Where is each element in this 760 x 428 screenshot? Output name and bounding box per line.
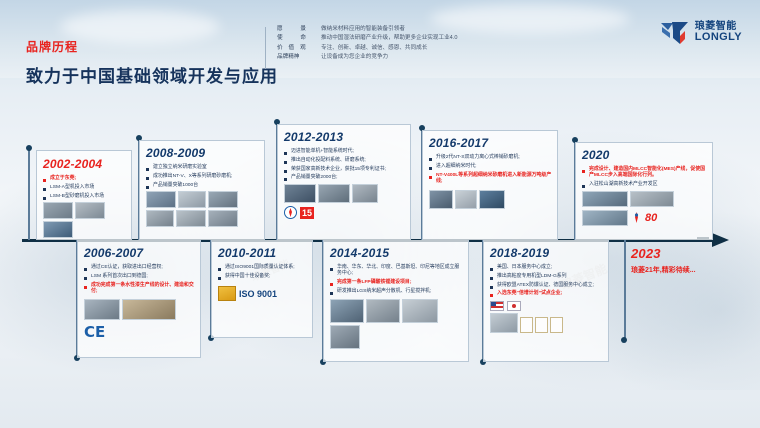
period-bullet: 入驻松山湖高新技术产业开发区 [582,182,707,188]
cloud-decoration [430,4,630,34]
period-bullet: 美国、日本服务中心成立; [490,265,603,271]
period-year: 2023 [631,246,741,261]
period-card-2008-2009[interactable]: 2008-2009 建立独立纳米研磨实验室 成功推出NT-V、X等系列研磨砂磨机… [139,140,265,240]
period-bullet: 产品销量突破2000台; [284,175,405,181]
thumbnail-image [146,210,174,227]
iso-badge-label: ISO 9001 [239,289,277,299]
logo-text: 琅菱智能 LONGLY [695,22,742,44]
period-bullet: 完成设计、建造国内MLCC智能化(MES)产线，促使国产MLCC步入高端国际化行… [582,167,707,180]
period-bullet: 获得中国十佳设备奖; [218,274,307,280]
page-title: 致力于中国基础领域开发与应用 [26,62,278,87]
thumbnail-image [429,190,453,209]
thumbnail-image [122,299,176,320]
period-bullet: 成功完成第一条水性漆生产线的设计、建造和交付; [84,283,195,296]
info-key: 价 值 观 [277,45,321,52]
thumbnail-image [479,190,505,209]
thumbnail-image [490,313,518,333]
period-card-2023[interactable]: 2023 琅菱21年,精彩待续... [631,246,741,275]
period-thumbnails [284,184,405,203]
connector-dot [621,337,627,343]
award-icon [631,211,642,224]
thumbnail-image [352,184,378,203]
thumbnail-image [75,202,105,219]
info-value: 专注、创新、卓越、诚信、感恩、共同成长 [321,45,427,52]
period-bullet: LSM 系列首次出口到德国; [84,274,195,280]
info-row-mission: 使 命推动中国湿法研磨产业升级，帮助更多企业实现工业4.0 [277,35,457,42]
period-badge: 15 [284,206,405,219]
header-divider [265,27,266,69]
thumbnail-image [43,221,73,238]
thumbnail-image [582,191,628,207]
period-thumbnails [84,299,195,320]
thumbnail-image [582,210,628,226]
patent-count-badge: 15 [300,207,314,219]
period-thumbnails [43,202,126,238]
period-year: 2014-2015 [330,246,463,260]
period-card-2006-2007[interactable]: 2006-2007 通过CE认证，获取进出口经营权; LSM 系列首次出口到德国… [77,240,201,358]
period-bullet: 华南、华东、华北、印度、巴基斯坦、印尼等地区成立服务中心; [330,265,463,278]
period-thumbnails [330,299,463,349]
thumbnail-image [402,299,438,323]
info-value: 让设备成为您企业的竞争力 [321,54,388,61]
period-badge: CE [84,323,195,341]
period-bullet: 升级2代NT-S双动力离心式棒销砂磨机; [429,155,552,161]
period-bullet: 琅菱21年,精彩待续... [631,265,741,275]
period-year: 2016-2017 [429,136,552,150]
period-bullet: 完成第一条LFP磷酸铁锂建设项目; [330,280,463,286]
country-flags [490,301,603,311]
certificate-icon [218,286,236,301]
period-thumbnails [582,191,707,207]
certificate-icon [520,317,533,333]
period-bullet: 荣获国家高新技术企业，获批15项专利证书; [284,167,405,173]
thumbnail-image [176,210,206,227]
period-year: 2006-2007 [84,246,195,260]
info-row-vision: 愿 景做纳米材料应用的智能装备引领者 [277,26,457,33]
period-year: 2008-2009 [146,146,259,160]
certificate-icon [550,317,563,333]
period-card-2018-2019[interactable]: 2018-2019 美国、日本服务中心成立; 推出高粘度专用机型LDM-G系列 … [483,240,609,362]
period-card-2016-2017[interactable]: 2016-2017 升级2代NT-S双动力离心式棒销砂磨机; 进入超细纳米时代;… [422,130,558,240]
info-value: 推动中国湿法研磨产业升级，帮助更多企业实现工业4.0 [321,35,457,42]
ce-mark-icon: CE [84,323,105,341]
japan-flag-icon [507,301,521,311]
period-card-2014-2015[interactable]: 2014-2015 华南、华东、华北、印度、巴基斯坦、印尼等地区成立服务中心; … [323,240,469,362]
thumbnail-image [330,299,364,323]
period-card-2012-2013[interactable]: 2012-2013 迈进智能单机+智能系统时代; 推出自动化投配料系统、研磨系统… [277,124,411,240]
period-card-2002-2004[interactable]: 2002-2004 成立于东莞; LSM-A型机投入市场 LSM-B型砂磨机投入… [36,150,132,240]
thumbnail-image [455,190,477,209]
period-bullet: 成功推出NT-V、X等系列研磨砂磨机; [146,174,259,180]
thumbnail-image [318,184,350,203]
patent-seal-icon [284,206,297,219]
period-year: 2010-2011 [218,246,307,260]
brand-kicker: 品牌历程 [26,38,278,55]
period-thumbnails [429,190,552,209]
period-bullet: 获得欧盟ATEX防爆认证、德国服务中心成立; [490,283,603,289]
thumbnail-image [208,210,238,227]
period-card-2010-2011[interactable]: 2010-2011 通过ISO9001国际质量认证体系; 获得中国十佳设备奖; … [211,240,313,338]
info-key: 品牌精神 [277,54,321,61]
thumbnail-image [630,191,674,207]
period-bullet: NT-V400L等系列超细纳米砂磨机进入新能源万吨级产线; [429,173,552,186]
thumbnail-image [366,299,400,323]
period-bullet: 研发推出LGS纳米超声分散机、行星搅拌机; [330,289,463,295]
connector-dot [26,145,32,151]
thumbnail-image [178,191,206,208]
company-info-block: 愿 景做纳米材料应用的智能装备引领者 使 命推动中国湿法研磨产业升级，帮助更多企… [277,26,457,64]
period-year: 2020 [582,148,707,162]
us-flag-icon [490,301,504,311]
period-bullet: 推出自动化投配料系统、研磨系统; [284,158,405,164]
period-bullet: LSM-B型砂磨机投入市场 [43,194,126,200]
period-year: 2018-2019 [490,246,603,260]
period-bullet: 通过ISO9001国际质量认证体系; [218,265,307,271]
logo-mark-icon [660,20,690,46]
period-bullet: 成立于东莞; [43,176,126,182]
info-row-values: 价 值 观专注、创新、卓越、诚信、感恩、共同成长 [277,45,457,52]
period-thumbnails [146,191,259,227]
info-value: 做纳米材料应用的智能装备引领者 [321,26,405,33]
period-card-2020[interactable]: 2020 完成设计、建造国内MLCC智能化(MES)产线，促使国产MLCC步入高… [575,142,713,240]
info-key: 愿 景 [277,26,321,33]
period-bullet: 通过CE认证，获取进出口经营权; [84,265,195,271]
period-bullet: LSM-A型机投入市场 [43,185,126,191]
company-logo: 琅菱智能 LONGLY [660,20,742,46]
period-badge: 80 [582,210,707,226]
header-left: 品牌历程 致力于中国基础领域开发与应用 [26,38,278,87]
period-bullet: 产品销量突破1000台 [146,183,259,189]
thumbnail-image [208,191,238,208]
period-badge: ISO 9001 [218,286,307,301]
certificate-icon [535,317,548,333]
connector-stem [624,240,626,340]
connector-stem [28,148,30,240]
period-bullet: 推出高粘度专用机型LDM-G系列 [490,274,603,280]
info-row-spirit: 品牌精神让设备成为您企业的竞争力 [277,54,457,61]
period-year: 2002-2004 [43,157,126,171]
period-bullet: 迈进智能单机+智能系统时代; [284,149,405,155]
period-bullet: 建立独立纳米研磨实验室 [146,165,259,171]
thumbnail-image [330,325,360,349]
timeline-arrow-icon [712,233,729,247]
period-thumbnails [490,313,603,333]
thumbnail-image [84,299,120,320]
period-bullet: 入选东莞“倍增计划”试点企业; [490,291,603,297]
period-bullet: 进入超细纳米时代; [429,164,552,170]
thumbnail-image [146,191,176,208]
info-key: 使 命 [277,35,321,42]
award-count-badge: 80 [645,212,657,224]
logo-en: LONGLY [695,32,742,44]
thumbnail-image [43,202,73,219]
period-year: 2012-2013 [284,130,405,144]
thumbnail-image [284,184,316,203]
